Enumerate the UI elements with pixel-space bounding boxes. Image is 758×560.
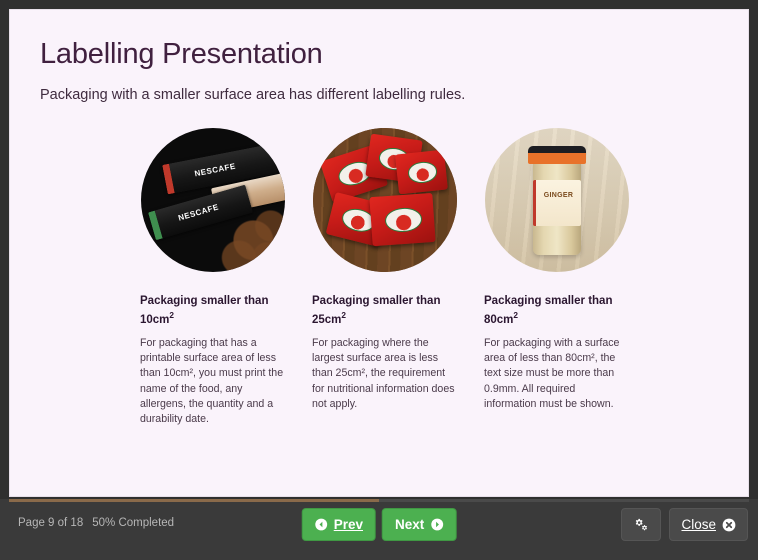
next-button-label: Next	[395, 518, 424, 532]
superscript-2: 2	[169, 311, 174, 320]
brand-label: NESCAFE	[194, 162, 237, 179]
schwartz-ground-ginger-jar-photo: GINGER	[485, 128, 629, 272]
next-button[interactable]: Next	[382, 508, 456, 541]
coffee-sachets-illustration: NESCAFE NESCAFE	[141, 128, 285, 272]
slide-card: Labelling Presentation Packaging with a …	[9, 9, 749, 497]
slide-subtitle: Packaging with a smaller surface area ha…	[40, 87, 718, 103]
superscript-2: 2	[341, 311, 346, 320]
column-heading-main: Packaging smaller than	[312, 295, 440, 307]
thumbnail-wrapper	[312, 127, 458, 273]
progress-bar-track	[9, 499, 749, 502]
chevron-right-circle-icon	[430, 518, 443, 531]
nescafe-coffee-sachets-photo: NESCAFE NESCAFE	[141, 128, 285, 272]
ketchup-packet-shape	[395, 149, 448, 194]
thumbnail-wrapper: GINGER	[484, 127, 630, 273]
page-title: Labelling Presentation	[40, 38, 718, 70]
close-circle-icon	[722, 518, 736, 532]
column-heading-unit: 10cm	[140, 314, 169, 326]
column-body: For packaging where the largest surface …	[312, 336, 458, 412]
jar-label-shape: GINGER	[533, 180, 582, 226]
presentation-viewer: Labelling Presentation Packaging with a …	[0, 0, 758, 560]
cogs-icon	[633, 517, 649, 533]
superscript-2: 2	[513, 311, 518, 320]
thumbnail-wrapper: NESCAFE NESCAFE	[140, 127, 286, 273]
progress-bar-fill	[9, 499, 379, 502]
info-column-10cm: NESCAFE NESCAFE Packaging smaller than 1	[140, 127, 286, 427]
column-heading-unit: 25cm	[312, 314, 341, 326]
close-button[interactable]: Close	[669, 508, 748, 541]
page-counter-label: Page 9 of 18	[18, 517, 83, 529]
completion-label: 50% Completed	[92, 517, 174, 529]
column-heading-unit: 80cm	[484, 314, 513, 326]
close-button-label: Close	[681, 518, 716, 532]
heinz-tomato-ketchup-sachets-photo	[313, 128, 457, 272]
navigation-button-group: Prev Next	[302, 508, 457, 541]
column-body: For packaging that has a printable surfa…	[140, 336, 286, 428]
slide-content: Labelling Presentation Packaging with a …	[10, 10, 748, 427]
spice-jar-illustration: GINGER	[485, 128, 629, 272]
sachet-shape: NESCAFE	[148, 184, 253, 239]
jar-lid-shape	[528, 146, 586, 165]
info-column-80cm: GINGER Packaging smaller than 80cm2 For …	[484, 127, 630, 427]
toolbar-right-group: Close	[621, 508, 748, 541]
column-heading-main: Packaging smaller than	[140, 295, 268, 307]
page-status: Page 9 of 1850% Completed	[18, 517, 174, 529]
column-body: For packaging with a surface area of les…	[484, 336, 630, 412]
column-heading: Packaging smaller than 25cm2	[312, 293, 458, 327]
chevron-left-circle-icon	[315, 518, 328, 531]
settings-button[interactable]	[621, 508, 661, 541]
ketchup-sachets-illustration	[313, 128, 457, 272]
column-heading: Packaging smaller than 10cm2	[140, 293, 286, 327]
column-heading: Packaging smaller than 80cm2	[484, 293, 630, 327]
jar-label-text: GINGER	[536, 192, 582, 199]
prev-button-label: Prev	[334, 518, 363, 532]
column-heading-main: Packaging smaller than	[484, 295, 612, 307]
info-columns: NESCAFE NESCAFE Packaging smaller than 1	[40, 127, 718, 427]
ketchup-packet-shape	[369, 193, 436, 246]
presentation-toolbar: Page 9 of 1850% Completed Prev Next	[0, 499, 758, 560]
prev-button[interactable]: Prev	[302, 508, 376, 541]
info-column-25cm: Packaging smaller than 25cm2 For packagi…	[312, 127, 458, 427]
brand-label: NESCAFE	[177, 202, 220, 222]
